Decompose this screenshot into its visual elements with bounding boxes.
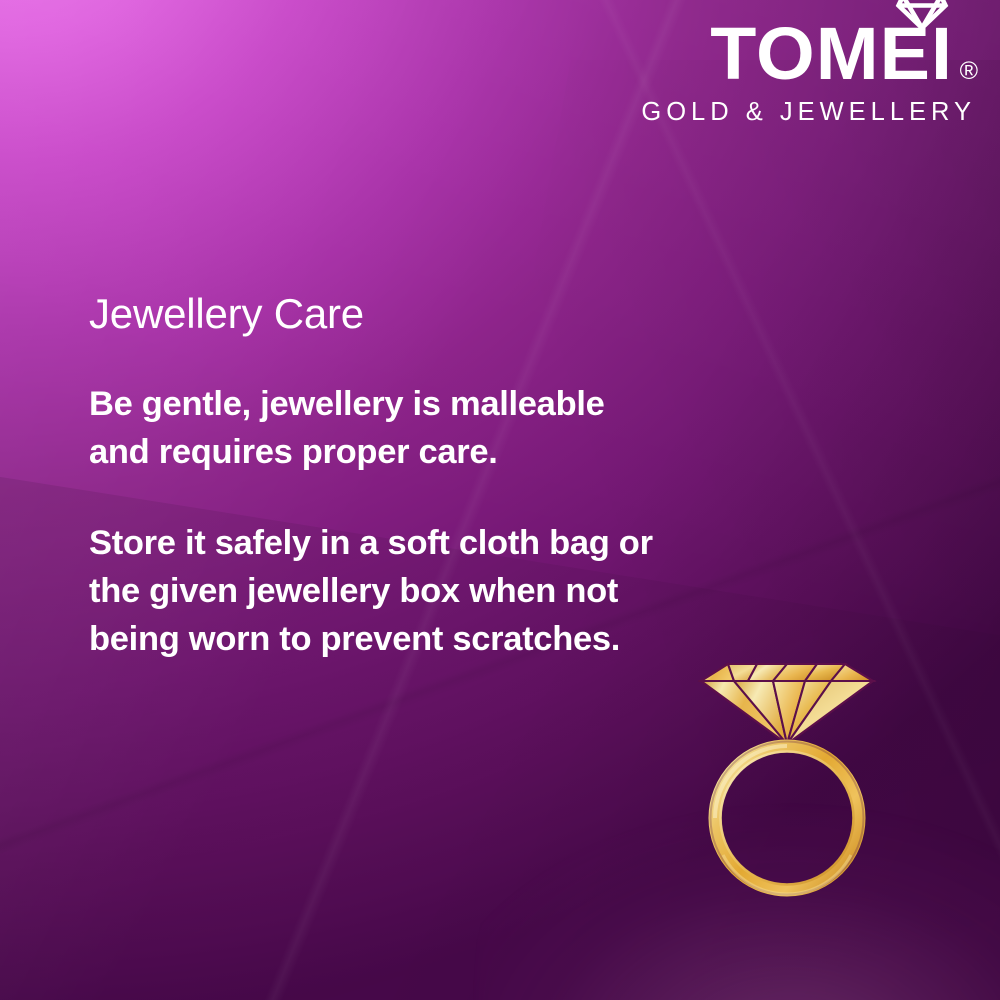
gem-pavilion <box>701 681 873 744</box>
ring-svg <box>693 640 883 920</box>
diamond-ring-illustration <box>693 640 883 920</box>
gem-crown <box>701 664 873 681</box>
brand-wordmark-row: TOMEI ® <box>641 18 978 89</box>
brand-tagline: GOLD & JEWELLERY <box>641 98 978 127</box>
brand-wordmark-wrapper: TOMEI <box>715 18 953 89</box>
headline: Jewellery Care <box>89 292 674 336</box>
ring-band <box>711 742 864 895</box>
poster-canvas: TOMEI ® GOLD & JEWELLERY Jewellery Care … <box>0 0 1000 1000</box>
registered-trademark-symbol: ® <box>960 59 978 89</box>
body-paragraph-1: Be gentle, jewellery is malleable and re… <box>89 380 674 477</box>
diamond-outline-icon <box>894 0 950 32</box>
copy-block: Jewellery Care Be gentle, jewellery is m… <box>89 292 674 664</box>
body-paragraph-2: Store it safely in a soft cloth bag or t… <box>89 519 674 664</box>
brand-logo: TOMEI ® GOLD & JEWELLERY <box>641 18 978 127</box>
